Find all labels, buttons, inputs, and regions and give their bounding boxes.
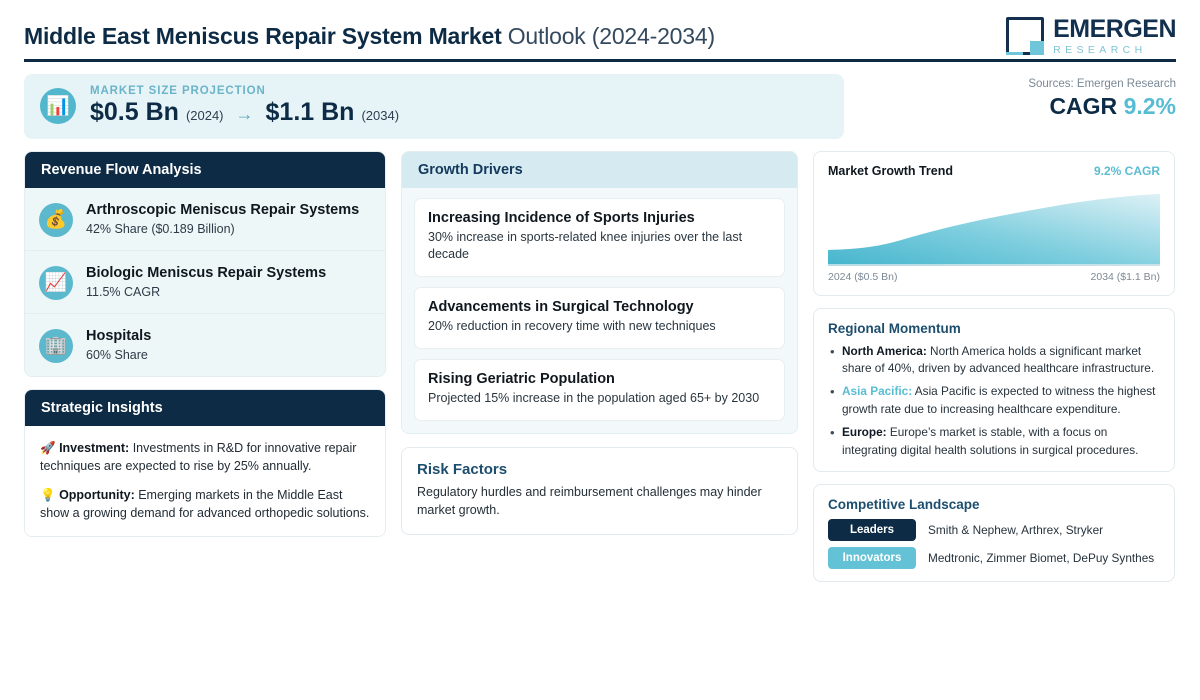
market-growth-trend-header: Market Growth Trend 9.2% CAGR xyxy=(828,164,1160,178)
insight-label: Opportunity: xyxy=(59,488,135,502)
insight-label: Investment: xyxy=(59,441,129,455)
list-item-title: Biologic Meniscus Repair Systems xyxy=(86,264,326,282)
strategic-insights-heading: Strategic Insights xyxy=(25,390,385,426)
market-growth-trend-cagr: 9.2% CAGR xyxy=(1094,164,1160,178)
list-item: 💰 Arthroscopic Meniscus Repair Systems 4… xyxy=(25,188,385,251)
list-item-content: Hospitals 60% Share xyxy=(86,327,151,362)
innovators-company-names: Medtronic, Zimmer Biomet, DePuy Synthes xyxy=(928,551,1154,565)
growth-driver-card: Advancements in Surgical Technology 20% … xyxy=(414,287,785,349)
list-item: 📈 Biologic Meniscus Repair Systems 11.5%… xyxy=(25,251,385,314)
risk-factors-card: Risk Factors Regulatory hurdles and reim… xyxy=(401,447,798,535)
lightbulb-icon: 💡 xyxy=(40,488,56,502)
insight-investment: 🚀 Investment: Investments in R&D for inn… xyxy=(40,439,370,475)
competitive-landscape-card: Competitive Landscape Leaders Smith & Ne… xyxy=(813,484,1175,582)
strategic-insights-body: 🚀 Investment: Investments in R&D for inn… xyxy=(25,426,385,537)
growth-driver-card: Rising Geriatric Population Projected 15… xyxy=(414,359,785,421)
rocket-icon: 🚀 xyxy=(40,441,56,455)
market-size-projection-label: MARKET SIZE PROJECTION xyxy=(90,85,399,97)
list-item: Asia Pacific: Asia Pacific is expected t… xyxy=(828,383,1160,418)
header-divider xyxy=(24,59,1176,62)
growth-driver-title: Advancements in Surgical Technology xyxy=(428,299,771,315)
hospital-building-icon: 🏢 xyxy=(39,329,73,363)
growth-drivers-list: Increasing Incidence of Sports Injuries … xyxy=(402,188,797,433)
page-title-light: Outlook (2024-2034) xyxy=(508,23,715,49)
competitive-row-innovators: Innovators Medtronic, Zimmer Biomet, DeP… xyxy=(828,547,1160,569)
growth-driver-desc: Projected 15% increase in the population… xyxy=(428,390,771,408)
page-title-strong: Middle East Meniscus Repair System Marke… xyxy=(24,23,502,49)
right-column: Market Growth Trend 9.2% CAGR xyxy=(813,151,1175,583)
market-growth-trend-card: Market Growth Trend 9.2% CAGR xyxy=(813,151,1175,296)
hero-meta: Sources: Emergen Research CAGR 9.2% xyxy=(844,74,1176,120)
region-label: Asia Pacific: xyxy=(842,384,912,398)
market-size-projection-card: 📊 MARKET SIZE PROJECTION $0.5 Bn (2024) … xyxy=(24,74,844,139)
strategic-insights-panel: Strategic Insights 🚀 Investment: Investm… xyxy=(24,389,386,538)
status-badge-leaders: Leaders xyxy=(828,519,916,541)
growth-driver-card: Increasing Incidence of Sports Injuries … xyxy=(414,198,785,278)
regional-momentum-list: North America: North America holds a sig… xyxy=(828,343,1160,460)
revenue-flow-heading: Revenue Flow Analysis xyxy=(25,152,385,188)
growth-driver-title: Rising Geriatric Population xyxy=(428,371,771,387)
money-bag-icon: 💰 xyxy=(39,203,73,237)
growth-drivers-panel: Growth Drivers Increasing Incidence of S… xyxy=(401,151,798,434)
arrow-right-icon: → xyxy=(236,104,254,125)
growth-driver-title: Increasing Incidence of Sports Injuries xyxy=(428,210,771,226)
regional-momentum-heading: Regional Momentum xyxy=(828,321,1160,336)
list-item-sub: 60% Share xyxy=(86,348,151,362)
infographic-page: Middle East Meniscus Repair System Marke… xyxy=(0,0,1200,700)
cagr-label: CAGR xyxy=(1049,93,1117,119)
area-chart-svg xyxy=(828,188,1160,266)
list-item: 🏢 Hospitals 60% Share xyxy=(25,314,385,376)
page-title: Middle East Meniscus Repair System Marke… xyxy=(24,23,715,50)
list-item-sub: 11.5% CAGR xyxy=(86,285,326,299)
area-chart xyxy=(828,188,1160,266)
market-size-projection-content: MARKET SIZE PROJECTION $0.5 Bn (2024) → … xyxy=(90,85,399,127)
middle-column: Growth Drivers Increasing Incidence of S… xyxy=(401,151,798,535)
competitive-row-leaders: Leaders Smith & Nephew, Arthrex, Stryker xyxy=(828,519,1160,541)
list-item-title: Hospitals xyxy=(86,327,151,345)
risk-factors-heading: Risk Factors xyxy=(417,461,782,478)
bar-chart-icon: 📊 xyxy=(40,88,76,124)
list-item: North America: North America holds a sig… xyxy=(828,343,1160,378)
list-item-title: Arthroscopic Meniscus Repair Systems xyxy=(86,201,359,219)
growth-driver-desc: 20% reduction in recovery time with new … xyxy=(428,318,771,336)
region-text: Europe’s market is stable, with a focus … xyxy=(842,425,1138,456)
content-columns: Revenue Flow Analysis 💰 Arthroscopic Men… xyxy=(24,151,1176,583)
logo-sub-text: RESEARCH xyxy=(1053,45,1176,56)
logo-wordmark: EMERGEN RESEARCH xyxy=(1053,17,1176,56)
insight-opportunity: 💡 Opportunity: Emerging markets in the M… xyxy=(40,486,370,522)
logo-square-icon xyxy=(1006,17,1044,55)
area-chart-axis: 2024 ($0.5 Bn) 2034 ($1.1 Bn) xyxy=(828,271,1160,283)
growth-driver-desc: 30% increase in sports-related knee inju… xyxy=(428,229,771,265)
revenue-flow-list: 💰 Arthroscopic Meniscus Repair Systems 4… xyxy=(25,188,385,376)
chart-increasing-icon: 📈 xyxy=(39,266,73,300)
list-item-content: Arthroscopic Meniscus Repair Systems 42%… xyxy=(86,201,359,236)
competitive-landscape-heading: Competitive Landscape xyxy=(828,497,1160,512)
leaders-company-names: Smith & Nephew, Arthrex, Stryker xyxy=(928,523,1103,537)
market-growth-trend-title: Market Growth Trend xyxy=(828,164,953,178)
market-value-end: $1.1 Bn xyxy=(266,98,355,127)
market-value-start: $0.5 Bn xyxy=(90,98,179,127)
region-label: Europe: xyxy=(842,425,887,439)
cagr-value: 9.2% xyxy=(1124,93,1176,119)
emergen-research-logo: EMERGEN RESEARCH xyxy=(1006,17,1176,56)
status-badge-innovators: Innovators xyxy=(828,547,916,569)
list-item-content: Biologic Meniscus Repair Systems 11.5% C… xyxy=(86,264,326,299)
region-label: North America: xyxy=(842,344,927,358)
list-item-sub: 42% Share ($0.189 Billion) xyxy=(86,222,359,236)
left-column: Revenue Flow Analysis 💰 Arthroscopic Men… xyxy=(24,151,386,538)
revenue-flow-analysis-panel: Revenue Flow Analysis 💰 Arthroscopic Men… xyxy=(24,151,386,377)
sources-text: Sources: Emergen Research xyxy=(844,78,1176,90)
page-header: Middle East Meniscus Repair System Marke… xyxy=(24,0,1176,56)
risk-factors-text: Regulatory hurdles and reimbursement cha… xyxy=(417,483,782,519)
axis-tick-right: 2034 ($1.1 Bn) xyxy=(1091,271,1160,283)
market-size-values: $0.5 Bn (2024) → $1.1 Bn (2034) xyxy=(90,98,399,127)
cagr-summary: CAGR 9.2% xyxy=(844,93,1176,120)
area-chart-fill xyxy=(828,194,1160,266)
axis-tick-left: 2024 ($0.5 Bn) xyxy=(828,271,897,283)
hero-band: 📊 MARKET SIZE PROJECTION $0.5 Bn (2024) … xyxy=(24,74,1176,139)
regional-momentum-card: Regional Momentum North America: North A… xyxy=(813,308,1175,473)
growth-drivers-heading: Growth Drivers xyxy=(402,152,797,188)
list-item: Europe: Europe’s market is stable, with … xyxy=(828,424,1160,459)
market-year-start: (2024) xyxy=(186,108,224,123)
logo-main-text: EMERGEN xyxy=(1053,17,1176,42)
market-year-end: (2034) xyxy=(361,108,399,123)
